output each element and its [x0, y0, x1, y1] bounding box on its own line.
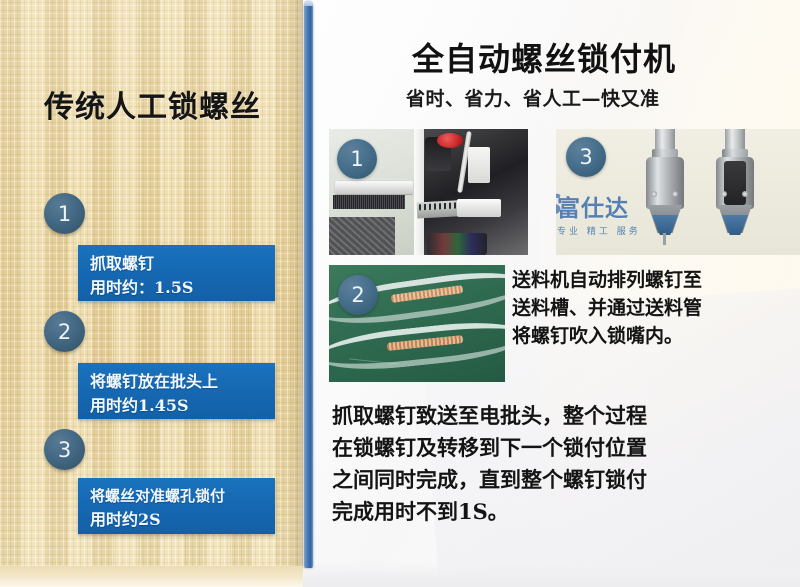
photo-badge-3: 3 — [566, 137, 606, 177]
paragraph-cycle-line-4: 完成用时不到1S。 — [332, 496, 800, 528]
nozzle-right-bolt-2 — [742, 191, 748, 197]
paragraph-cycle-line-1: 抓取螺钉致送至电批头，整个过程 — [332, 400, 800, 432]
step-3-line-1: 将螺丝对准螺孔锁付 — [90, 485, 265, 508]
paragraph-cycle-line-2: 在锁螺钉及转移到下一个锁付位置 — [332, 432, 800, 464]
paragraph-cycle-time: 抓取螺钉致送至电批头，整个过程 在锁螺钉及转移到下一个锁付位置 之间同时完成，直… — [332, 400, 800, 528]
step-box-3: 将螺丝对准螺孔锁付 用时约2S — [78, 478, 275, 534]
slide-canvas: 传统人工锁螺丝 1 抓取螺钉 用时约：1.5S 2 将螺钉放在批头上 用时约1.… — [0, 0, 800, 587]
watermark: 富仕达 专业 精工 服务 — [557, 189, 641, 237]
step-2-line-2: 用时约1.45S — [90, 394, 265, 418]
background-bottom-band — [300, 561, 800, 587]
step-badge-3: 3 — [44, 429, 85, 470]
watermark-logo-icon — [556, 191, 565, 215]
photo1-screw-pile — [329, 217, 395, 255]
nozzle-right-dark-face — [724, 161, 746, 205]
paragraph-feeder-line-3: 将螺钉吹入锁嘴内。 — [512, 322, 798, 350]
nozzle-right-bolt-1 — [721, 191, 727, 197]
step-box-2: 将螺钉放在批头上 用时约1.45S — [78, 363, 275, 419]
nozzle-right-blue-tip — [722, 215, 748, 235]
nozzle-left-point — [663, 233, 666, 245]
photo1-wall — [414, 129, 424, 255]
divider-top-cap — [304, 0, 313, 6]
photo-lock-nozzles: 富仕达 专业 精工 服务 3 — [556, 129, 800, 255]
step-badge-1: 1 — [44, 193, 85, 234]
right-panel-title: 全自动螺丝锁付机 — [412, 34, 676, 80]
photo1-rail — [335, 181, 413, 194]
step-1-line-1: 抓取螺钉 — [90, 252, 265, 276]
paragraph-cycle-line-3: 之间同时完成，直到整个螺钉锁付 — [332, 464, 800, 496]
right-panel-subtitle: 省时、省力、省人工—快又准 — [406, 84, 660, 111]
step-2-line-1: 将螺钉放在批头上 — [90, 370, 265, 394]
nozzle-left-bolt-2 — [672, 191, 678, 197]
photo1-white-block — [468, 147, 490, 183]
photo1-plate — [457, 199, 501, 217]
paragraph-feeder: 送料机自动排列螺钉至 送料槽、并通过送料管 将螺钉吹入锁嘴内。 — [512, 266, 798, 350]
nozzle-left — [642, 129, 688, 255]
step-badge-2: 2 — [44, 311, 85, 352]
step-3-line-2: 用时约2S — [90, 508, 265, 532]
step-box-1: 抓取螺钉 用时约：1.5S — [78, 245, 275, 301]
left-panel-bottom-strip — [0, 566, 303, 587]
step-1-line-2: 用时约：1.5S — [90, 276, 265, 300]
photo-badge-2: 2 — [338, 275, 378, 315]
nozzle-right — [712, 129, 758, 255]
paragraph-feeder-line-2: 送料槽、并通过送料管 — [512, 294, 798, 322]
photo-badge-1: 1 — [337, 139, 377, 179]
vertical-divider-bar — [304, 2, 313, 568]
left-panel-title: 传统人工锁螺丝 — [44, 82, 294, 126]
nozzle-left-blue-tip — [652, 215, 678, 235]
photo1-red-knob — [437, 133, 463, 148]
nozzle-left-body — [646, 157, 684, 209]
nozzle-left-bolt-1 — [651, 191, 657, 197]
photo-feed-tubes: 2 — [329, 265, 505, 382]
photo-machine-interior: 1 — [329, 129, 528, 255]
watermark-brand: 富仕达 — [557, 189, 641, 223]
photo1-wires — [427, 233, 487, 255]
photo1-brush — [333, 195, 405, 209]
paragraph-feeder-line-1: 送料机自动排列螺钉至 — [512, 266, 798, 294]
watermark-slogan: 专业 精工 服务 — [557, 224, 641, 237]
